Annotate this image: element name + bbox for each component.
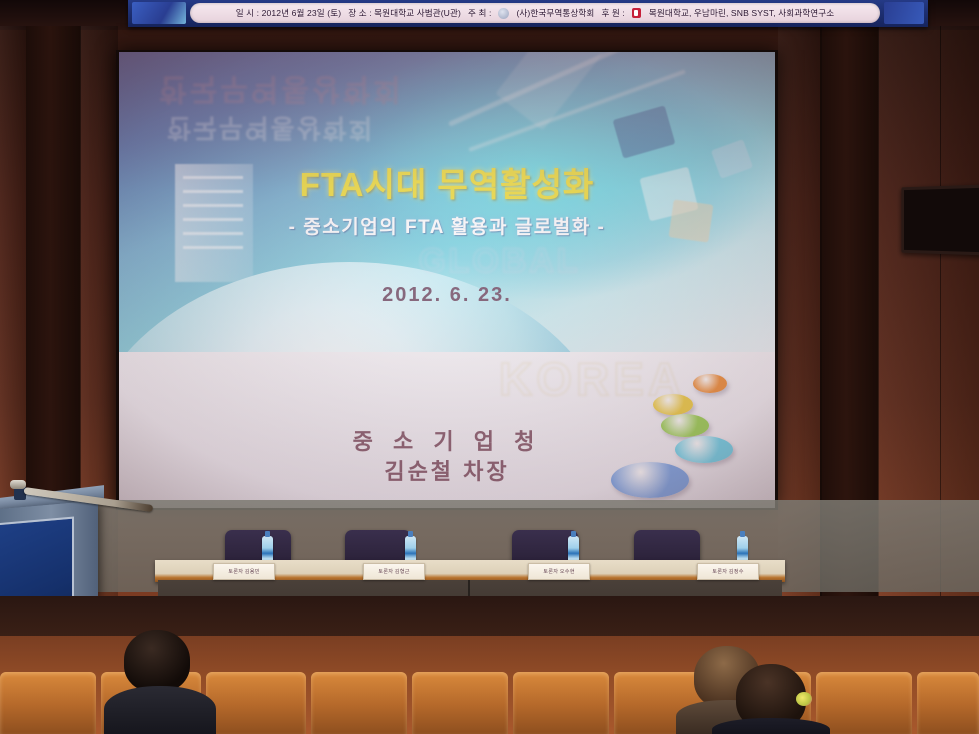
panel-chair [345, 530, 411, 564]
audience-seat [412, 672, 508, 734]
host-logo-icon [498, 8, 509, 19]
slide-date: 2012. 6. 23. [119, 284, 775, 307]
slide-speaker: 김순철 차장 [119, 454, 775, 486]
audience-seat [513, 672, 609, 734]
banner-host-label: 주 최 : [468, 7, 491, 19]
slide-title: FTA시대 무역활성화 [119, 158, 775, 206]
wall-mounted-monitor [901, 185, 979, 256]
banner-host-name: (사)한국무역통상학회 [516, 7, 594, 19]
name-placard-label: 토론자 김용민 [228, 568, 259, 575]
name-placard-label: 토론자 김형근 [378, 568, 409, 575]
banner-sponsor-list: 목원대학교, 우남마린, SNB SYST, 사회과학연구소 [649, 7, 834, 19]
audience-person-left [124, 630, 190, 692]
banner-text: 일 시 : 2012년 6월 23일 (토) 장 소 : 목원대학교 사범관(U… [236, 7, 835, 19]
name-placard: 토론자 오수현 [528, 563, 590, 580]
audience-seat [311, 672, 407, 734]
slide-organization: 중 소 기 업 청 [119, 424, 775, 456]
conference-hall-photo: 일 시 : 2012년 6월 23일 (토) 장 소 : 목원대학교 사범관(U… [0, 0, 979, 734]
audience-seat [816, 672, 912, 734]
yellow-pebble [653, 394, 693, 415]
slide-ghost-text-2: GLOBAL [419, 242, 581, 281]
event-banner: 일 시 : 2012년 6월 23일 (토) 장 소 : 목원대학교 사범관(U… [128, 0, 928, 27]
sponsor-logo-icon [632, 8, 641, 18]
audience-person-right-shoulders [712, 718, 830, 734]
panel-chair [634, 530, 700, 564]
audience-person-left-shoulders [104, 686, 216, 734]
banner-location: 장 소 : 목원대학교 사범관(U관) [348, 7, 461, 19]
slide-watermark: 한국무역통상학회 [167, 90, 467, 148]
banner-sponsor-label: 후 원 : [601, 7, 624, 19]
name-placard: 토론자 김형근 [363, 563, 425, 580]
hair-clip-accessory [796, 692, 812, 706]
audience-seat [206, 672, 306, 734]
name-placard: 토론자 김정수 [697, 563, 759, 580]
banner-left-logo [132, 2, 186, 24]
slide-subtitle: - 중소기업의 FTA 활용과 글로벌화 - [119, 212, 775, 239]
banner-pill: 일 시 : 2012년 6월 23일 (토) 장 소 : 목원대학교 사범관(U… [190, 3, 880, 23]
presentation-slide: 한국무역통상학회 한국무역통상학회 GLOBAL KOREA FTA시대 무역활… [119, 52, 775, 508]
orange-pebble [693, 374, 727, 393]
audience-seat [0, 672, 96, 734]
banner-right-logo [884, 2, 924, 24]
name-placard-label: 토론자 오수현 [543, 568, 574, 575]
microphone-icon [10, 480, 26, 489]
name-placard: 토론자 김용민 [213, 563, 275, 580]
projection-screen: 한국무역통상학회 한국무역통상학회 GLOBAL KOREA FTA시대 무역활… [119, 52, 775, 508]
name-placard-label: 토론자 김정수 [712, 568, 743, 575]
banner-date: 일 시 : 2012년 6월 23일 (토) [236, 7, 342, 19]
panel-chair [225, 530, 291, 564]
audience-seat [917, 672, 979, 734]
